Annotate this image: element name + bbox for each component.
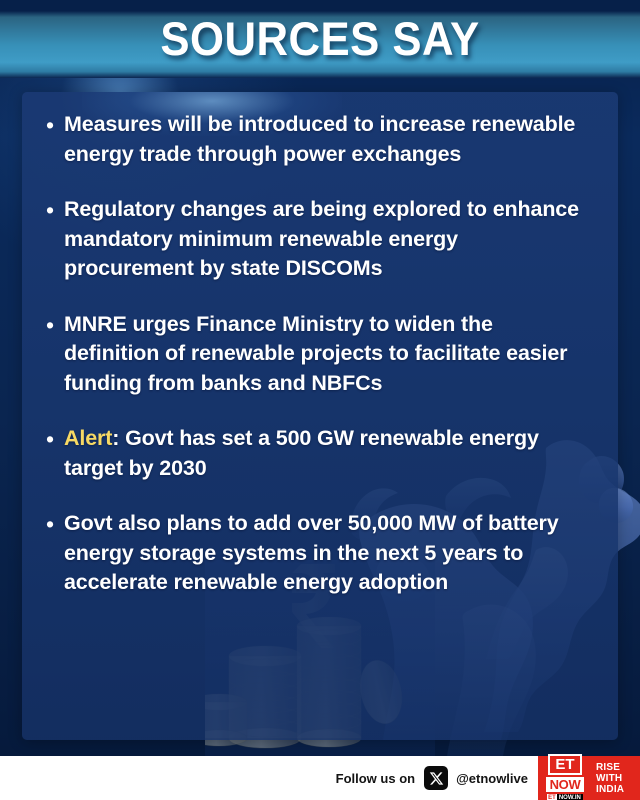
social-handle[interactable]: @etnowlive — [456, 771, 528, 786]
bullet-text: Measures will be introduced to increase … — [64, 110, 592, 169]
et-logo-text: ET — [548, 754, 581, 775]
etnow-logo: ET NOW ETNOW.IN RISE WITH INDIA — [538, 756, 640, 800]
etnow-domain-suffix: NOW.IN — [557, 794, 583, 800]
now-logo-text: NOW — [546, 777, 585, 792]
etnow-domain: ETNOW.IN — [547, 794, 583, 800]
list-item: • Regulatory changes are being explored … — [46, 195, 592, 284]
list-item: • MNRE urges Finance Ministry to widen t… — [46, 310, 592, 399]
bullet-marker-icon: • — [46, 424, 64, 454]
bullet-marker-icon: • — [46, 110, 64, 140]
etnow-logo-mark: ET NOW ETNOW.IN — [538, 756, 592, 800]
content-card: • Measures will be introduced to increas… — [22, 92, 618, 740]
x-twitter-icon[interactable] — [424, 766, 448, 790]
bullet-text: Alert: Govt has set a 500 GW renewable e… — [64, 424, 592, 483]
follow-us-label: Follow us on — [336, 771, 415, 786]
bullet-text: MNRE urges Finance Ministry to widen the… — [64, 310, 592, 399]
bullet-marker-icon: • — [46, 195, 64, 225]
list-item-alert: • Alert: Govt has set a 500 GW renewable… — [46, 424, 592, 483]
bullet-marker-icon: • — [46, 509, 64, 539]
bullet-text: Regulatory changes are being explored to… — [64, 195, 592, 284]
etnow-domain-prefix: ET — [547, 794, 557, 800]
header-band: SOURCES SAY — [0, 0, 640, 78]
page-title: SOURCES SAY — [22, 10, 617, 68]
list-item: • Measures will be introduced to increas… — [46, 110, 592, 169]
alert-label: Alert — [64, 426, 112, 450]
tagline-line-3: INDIA — [596, 784, 624, 795]
bullet-text: Govt also plans to add over 50,000 MW of… — [64, 509, 592, 598]
footer-bar: Follow us on @etnowlive ET NOW ETNOW.IN … — [0, 756, 640, 800]
tagline-line-2: WITH — [596, 773, 622, 784]
bullet-list: • Measures will be introduced to increas… — [22, 92, 618, 598]
etnow-tagline: RISE WITH INDIA — [592, 756, 640, 800]
bullet-marker-icon: • — [46, 310, 64, 340]
tagline-line-1: RISE — [596, 762, 620, 773]
infographic-canvas: SOURCES SAY • Measures will be introduce… — [0, 0, 640, 800]
list-item: • Govt also plans to add over 50,000 MW … — [46, 509, 592, 598]
